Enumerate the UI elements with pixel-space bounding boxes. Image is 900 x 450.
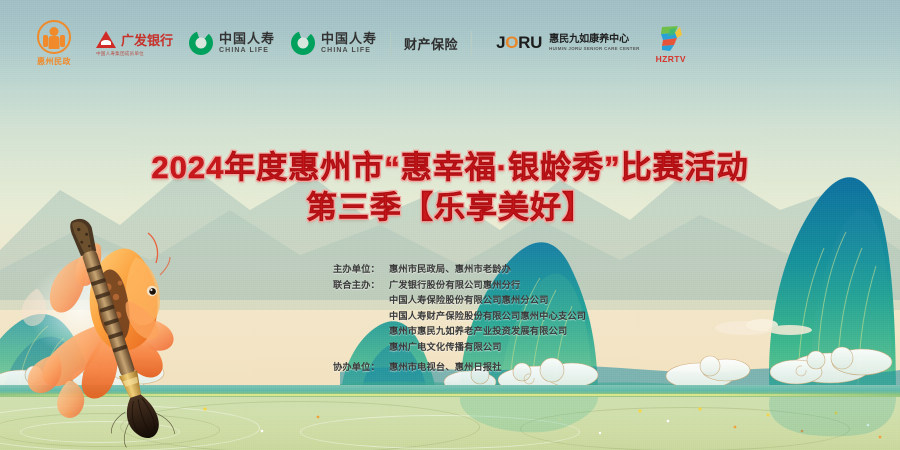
organiser-value: 广发银行股份有限公司惠州分行 (389, 278, 520, 294)
logo-china-life[interactable]: 中国人寿 CHINA LIFE (189, 31, 275, 55)
organiser-label: 协办单位： (333, 360, 389, 376)
organiser-row: 联合主办： 惠州广电文化传播有限公司 (333, 340, 586, 356)
cgb-triangle-icon (96, 31, 116, 48)
organiser-value: 中国人寿保险股份有限公司惠州分公司 (389, 293, 549, 309)
logo-joru-en-label: HUIMIN JORU SENIOR CARE CENTER (549, 47, 640, 51)
organiser-row: 联合主办： 广发银行股份有限公司惠州分行 (333, 278, 586, 294)
civil-affairs-emblem-icon (37, 20, 71, 54)
organiser-value: 中国人寿财产保险股份有限公司惠州中心支公司 (389, 309, 586, 325)
logo-china-life-property-label: 中国人寿 (321, 32, 377, 45)
organiser-row: 主办单位： 惠州市民政局、惠州市老龄办 (333, 262, 586, 278)
logo-cgb-bank-sublabel: 中国人寿集团成员单位 (96, 50, 144, 56)
organiser-row: 联合主办： 惠州市惠民九如养老产业投资发展有限公司 (333, 324, 586, 340)
logo-divider-right (471, 31, 472, 55)
organiser-label: 主办单位： (333, 262, 389, 278)
logo-hzrtv-label: HZRTV (656, 54, 686, 64)
logo-hzrtv[interactable]: HZRTV (656, 23, 686, 64)
title-line-2: 第三季【乐享美好】 (0, 188, 900, 228)
hzrtv-ribbon-icon (656, 23, 686, 53)
joru-wordmark-icon: JORU (496, 33, 542, 53)
organiser-value: 惠州市惠民九如养老产业投资发展有限公司 (389, 324, 567, 340)
logo-china-life-label: 中国人寿 (219, 32, 275, 45)
organiser-row: 协办单位： 惠州市电视台、惠州日报社 (333, 360, 586, 376)
logo-china-life-property[interactable]: 中国人寿 CHINA LIFE 财产保险 (291, 31, 479, 55)
goldfish-brush-illustration (10, 205, 220, 450)
logo-joru-senior-care[interactable]: JORU 惠民九如康养中心 HUIMIN JORU SENIOR CARE CE… (496, 33, 640, 53)
organiser-row: 联合主办： 中国人寿财产保险股份有限公司惠州中心支公司 (333, 309, 586, 325)
mountain-reflection (340, 397, 900, 437)
china-life-property-mark-icon (291, 31, 315, 55)
logo-cgb-bank-label: 广发银行 (121, 30, 173, 49)
logo-china-life-en-label: CHINA LIFE (219, 47, 275, 54)
organiser-value: 惠州市电视台、惠州日报社 (389, 360, 502, 376)
logo-joru-label: 惠民九如康养中心 (549, 35, 640, 45)
logo-huizhou-civil-affairs[interactable]: 惠州民政 (26, 20, 82, 67)
sponsor-logo-bar: 惠州民政 广发银行 中国人寿集团成员单位 中国人寿 CHINA LIFE 中国人… (0, 0, 900, 86)
poster-canvas: 惠州民政 广发银行 中国人寿集团成员单位 中国人寿 CHINA LIFE 中国人… (0, 0, 900, 450)
logo-china-life-property-en-label: CHINA LIFE (321, 47, 377, 54)
logo-huizhou-civil-affairs-label: 惠州民政 (37, 56, 71, 67)
logo-divider (390, 31, 391, 55)
logo-cgb-bank[interactable]: 广发银行 中国人寿集团成员单位 (96, 30, 173, 57)
organiser-value: 惠州市民政局、惠州市老龄办 (389, 262, 511, 278)
organiser-value: 惠州广电文化传播有限公司 (389, 340, 502, 356)
organiser-label: 联合主办： (333, 278, 389, 294)
title-line-1: 2024年度惠州市“惠幸福·银龄秀”比赛活动 (0, 148, 900, 188)
china-life-mark-icon (189, 31, 213, 55)
organiser-row: 联合主办： 中国人寿保险股份有限公司惠州分公司 (333, 293, 586, 309)
poster-title: 2024年度惠州市“惠幸福·银龄秀”比赛活动 第三季【乐享美好】 (0, 148, 900, 227)
logo-china-life-property-suffix: 财产保险 (404, 34, 458, 53)
organiser-credits: 主办单位： 惠州市民政局、惠州市老龄办 联合主办： 广发银行股份有限公司惠州分行… (333, 262, 586, 375)
